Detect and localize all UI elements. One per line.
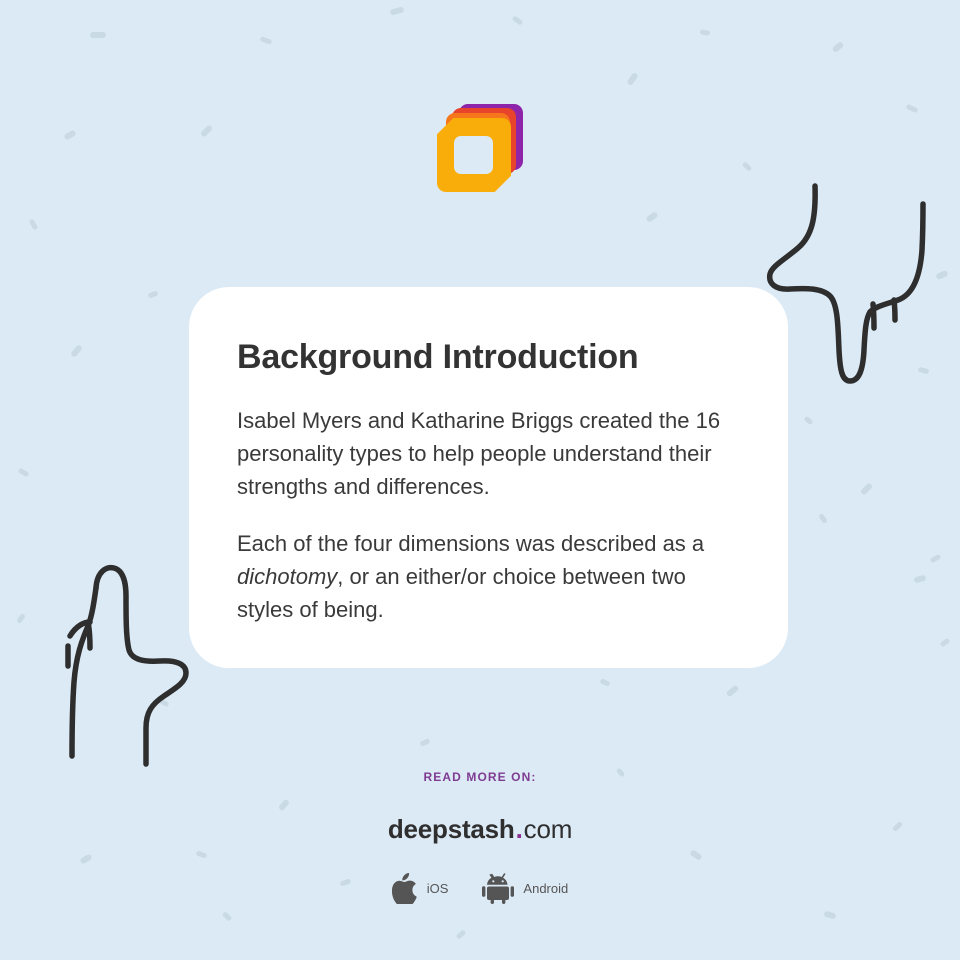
speckle xyxy=(700,29,711,36)
speckle xyxy=(456,929,467,939)
speckle xyxy=(726,685,740,698)
speckle xyxy=(939,638,950,648)
brand-tld: com xyxy=(524,814,573,845)
speckle xyxy=(860,482,873,495)
speckle xyxy=(157,698,169,708)
android-icon xyxy=(482,873,514,904)
brand-name: deepstash xyxy=(388,814,515,845)
content-card: Background Introduction Isabel Myers and… xyxy=(189,287,788,668)
speckle xyxy=(70,344,83,358)
speckle xyxy=(599,678,610,687)
speckle xyxy=(16,613,26,624)
store-badge-ios[interactable]: iOS xyxy=(392,873,449,904)
speckle xyxy=(823,911,836,920)
card-paragraph-1: Isabel Myers and Katharine Briggs create… xyxy=(237,404,738,503)
store-badges: iOS Android xyxy=(392,873,568,904)
apple-icon xyxy=(392,873,418,904)
speckle xyxy=(935,270,948,281)
brand-dot: . xyxy=(516,814,523,845)
read-more-label: READ MORE ON: xyxy=(424,770,537,784)
speckle xyxy=(929,554,941,564)
speckle xyxy=(818,513,828,524)
logo-center-cutout xyxy=(454,136,493,174)
speckle xyxy=(419,738,430,747)
speckle xyxy=(626,72,638,86)
speckle xyxy=(831,41,844,53)
paragraph-1-text: Isabel Myers and Katharine Briggs create… xyxy=(237,408,720,499)
logo-container xyxy=(0,104,960,192)
speckle xyxy=(222,911,233,922)
speckle xyxy=(90,32,106,38)
brand-wordmark[interactable]: deepstash.com xyxy=(388,814,572,845)
store-label-android: Android xyxy=(523,881,568,896)
speckle xyxy=(260,36,273,45)
card-paragraph-2: Each of the four dimensions was describe… xyxy=(237,527,738,626)
paragraph-2-emphasis: dichotomy xyxy=(237,564,337,589)
speckle xyxy=(918,367,930,375)
speckle xyxy=(147,290,158,298)
pointing-hand-up-icon xyxy=(26,560,204,772)
speckle xyxy=(913,575,926,584)
pointing-hand-down-icon xyxy=(760,178,950,398)
speckle xyxy=(803,416,813,426)
deepstash-logo-icon xyxy=(437,104,523,192)
speckle xyxy=(645,211,658,223)
speckle xyxy=(389,6,404,15)
speckle xyxy=(17,468,29,478)
store-badge-android[interactable]: Android xyxy=(482,873,568,904)
page-title: Background Introduction xyxy=(237,339,738,376)
store-label-ios: iOS xyxy=(427,881,449,896)
speckle xyxy=(512,15,524,25)
footer: READ MORE ON: deepstash.com iOS xyxy=(0,770,960,904)
speckle xyxy=(29,218,39,230)
paragraph-2-text-before: Each of the four dimensions was describe… xyxy=(237,531,704,556)
